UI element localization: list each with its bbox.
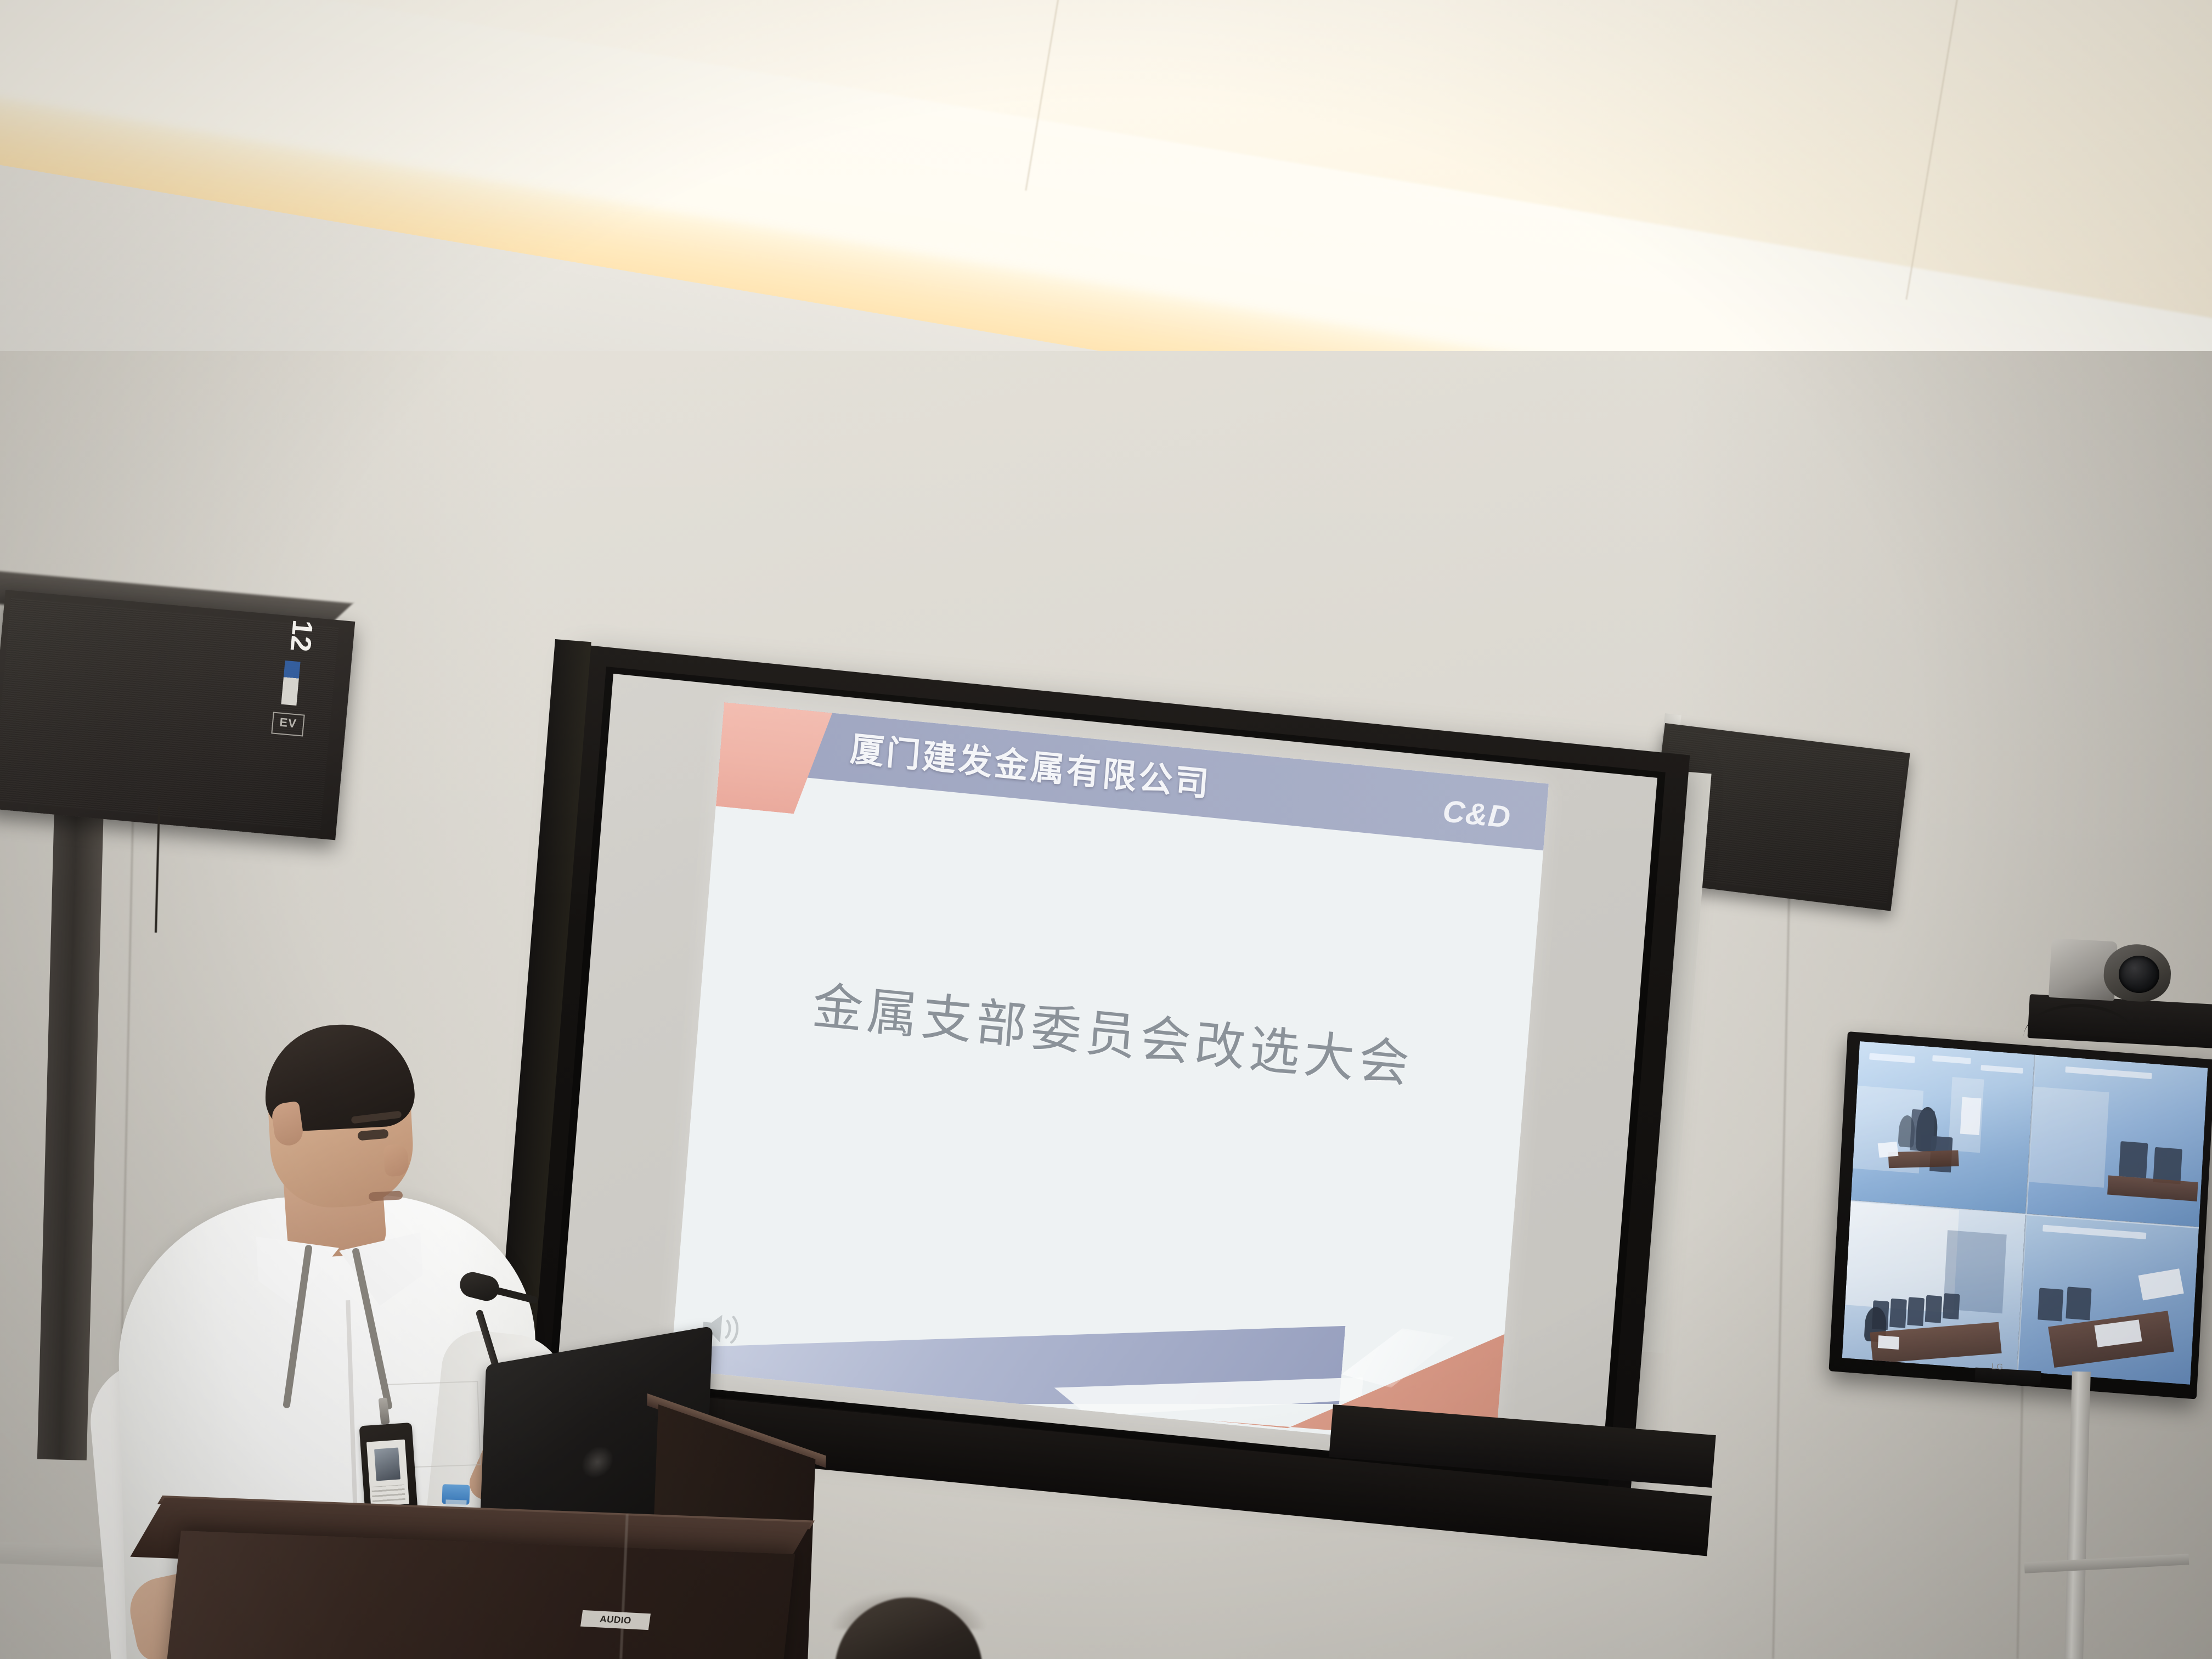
podium-equipment-label: AUDIO (580, 1610, 651, 1630)
presenter-mouth (369, 1190, 403, 1201)
presenter-nose (383, 1144, 409, 1177)
id-badge-text-lines (371, 1485, 405, 1502)
video-feed-tile (1851, 1041, 2035, 1214)
presentation-slide: 厦门建发金属有限公司 C&D 金属支部委员会改选大会 (670, 702, 1549, 1451)
video-feed-tile (2026, 1055, 2208, 1227)
speaker-number-label: 12 (284, 617, 319, 654)
video-feed-tile (1842, 1201, 2025, 1372)
id-badge-photo (374, 1448, 400, 1481)
speaker-brand-logo: EV (271, 712, 304, 736)
video-feed-tile (2017, 1214, 2199, 1384)
video-wall-display-panel[interactable] (1842, 1041, 2208, 1385)
meeting-room-photo: 12 EV 厦门建发金属有限公司 C&D 金属支部委员会改选大会 (0, 0, 2212, 1659)
display-brand-logo: LG (1978, 1361, 2017, 1374)
